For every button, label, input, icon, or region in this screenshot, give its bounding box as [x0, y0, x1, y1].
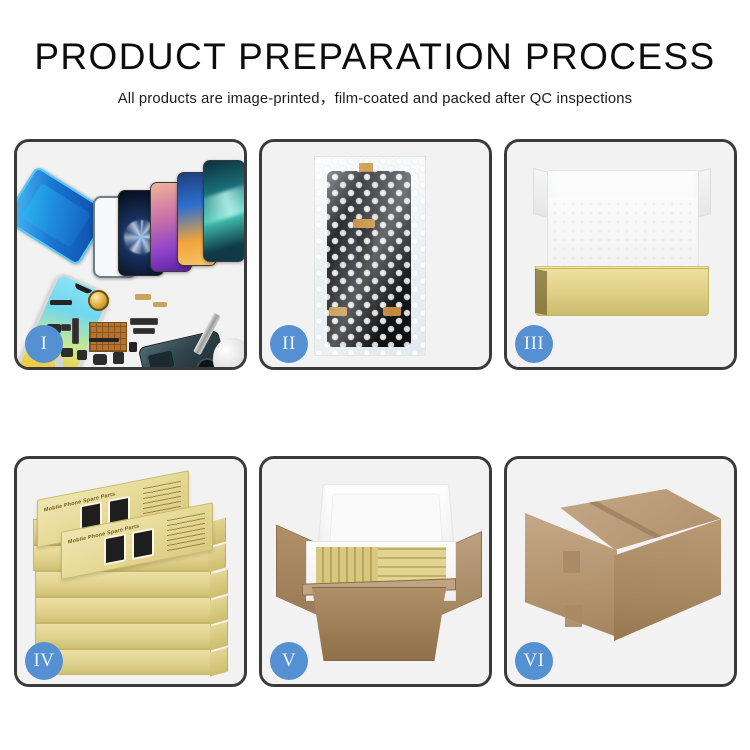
- small-part-icon: [129, 342, 137, 352]
- speaker-coil-icon: [88, 290, 109, 311]
- kraft-tray-icon: [535, 268, 709, 316]
- header: PRODUCT PREPARATION PROCESS All products…: [0, 0, 750, 108]
- small-part-icon: [55, 358, 63, 367]
- teal-swirl-phone-icon: [203, 160, 244, 262]
- open-flat-box-illustration: [529, 170, 715, 330]
- panel-step-5: V: [259, 456, 492, 687]
- panel-step-4: Mobile Phone Spare Parts Mobile Phone Sp…: [14, 456, 247, 687]
- small-part-icon: [135, 294, 151, 300]
- plastic-sheen: [315, 157, 425, 355]
- product-preparation-infographic: PRODUCT PREPARATION PROCESS All products…: [0, 0, 750, 750]
- step-badge-6: VI: [515, 642, 553, 680]
- page-title: PRODUCT PREPARATION PROCESS: [0, 38, 750, 77]
- carton-flap-tab: [565, 605, 582, 627]
- small-part-icon: [153, 302, 167, 307]
- small-part-icon: [77, 350, 87, 360]
- small-part-icon: [50, 300, 72, 305]
- small-part-icon: [61, 348, 73, 357]
- step-badge-3: III: [515, 325, 553, 363]
- tray-side-edge: [535, 269, 547, 316]
- page-subtitle: All products are image-printed，film-coat…: [0, 87, 750, 108]
- flex-cable-icon: [133, 328, 155, 334]
- flex-cable-icon: [72, 318, 79, 344]
- sealed-carton-illustration: [525, 489, 721, 661]
- box-spec-lines: [167, 513, 205, 554]
- process-step-grid: I II: [14, 139, 736, 687]
- foam-sheet-icon: [549, 198, 697, 272]
- box-window-icon: [104, 533, 126, 565]
- carton-body-icon: [306, 587, 452, 661]
- box-window-icon: [132, 528, 154, 560]
- bubble-wrap-bag-illustration: [314, 156, 426, 356]
- step-badge-1: I: [25, 325, 63, 363]
- carton-flap-tab: [563, 551, 580, 573]
- small-part-icon: [113, 352, 124, 364]
- panel-step-6: VI: [504, 456, 737, 687]
- step-badge-2: II: [270, 325, 308, 363]
- step-badge-4: IV: [25, 642, 63, 680]
- panel-step-1: I: [14, 139, 247, 370]
- panel-step-2: II: [259, 139, 492, 370]
- small-part-icon: [89, 338, 119, 342]
- flex-cable-icon: [61, 324, 71, 331]
- small-part-icon: [93, 354, 107, 365]
- step-badge-5: V: [270, 642, 308, 680]
- panel-step-3: III: [504, 139, 737, 370]
- foam-carton-illustration: [282, 481, 474, 665]
- stacked-boxes-illustration: Mobile Phone Spare Parts Mobile Phone Sp…: [29, 471, 237, 677]
- copper-pad-grid-icon: [89, 322, 127, 352]
- flex-cable-icon: [130, 318, 158, 325]
